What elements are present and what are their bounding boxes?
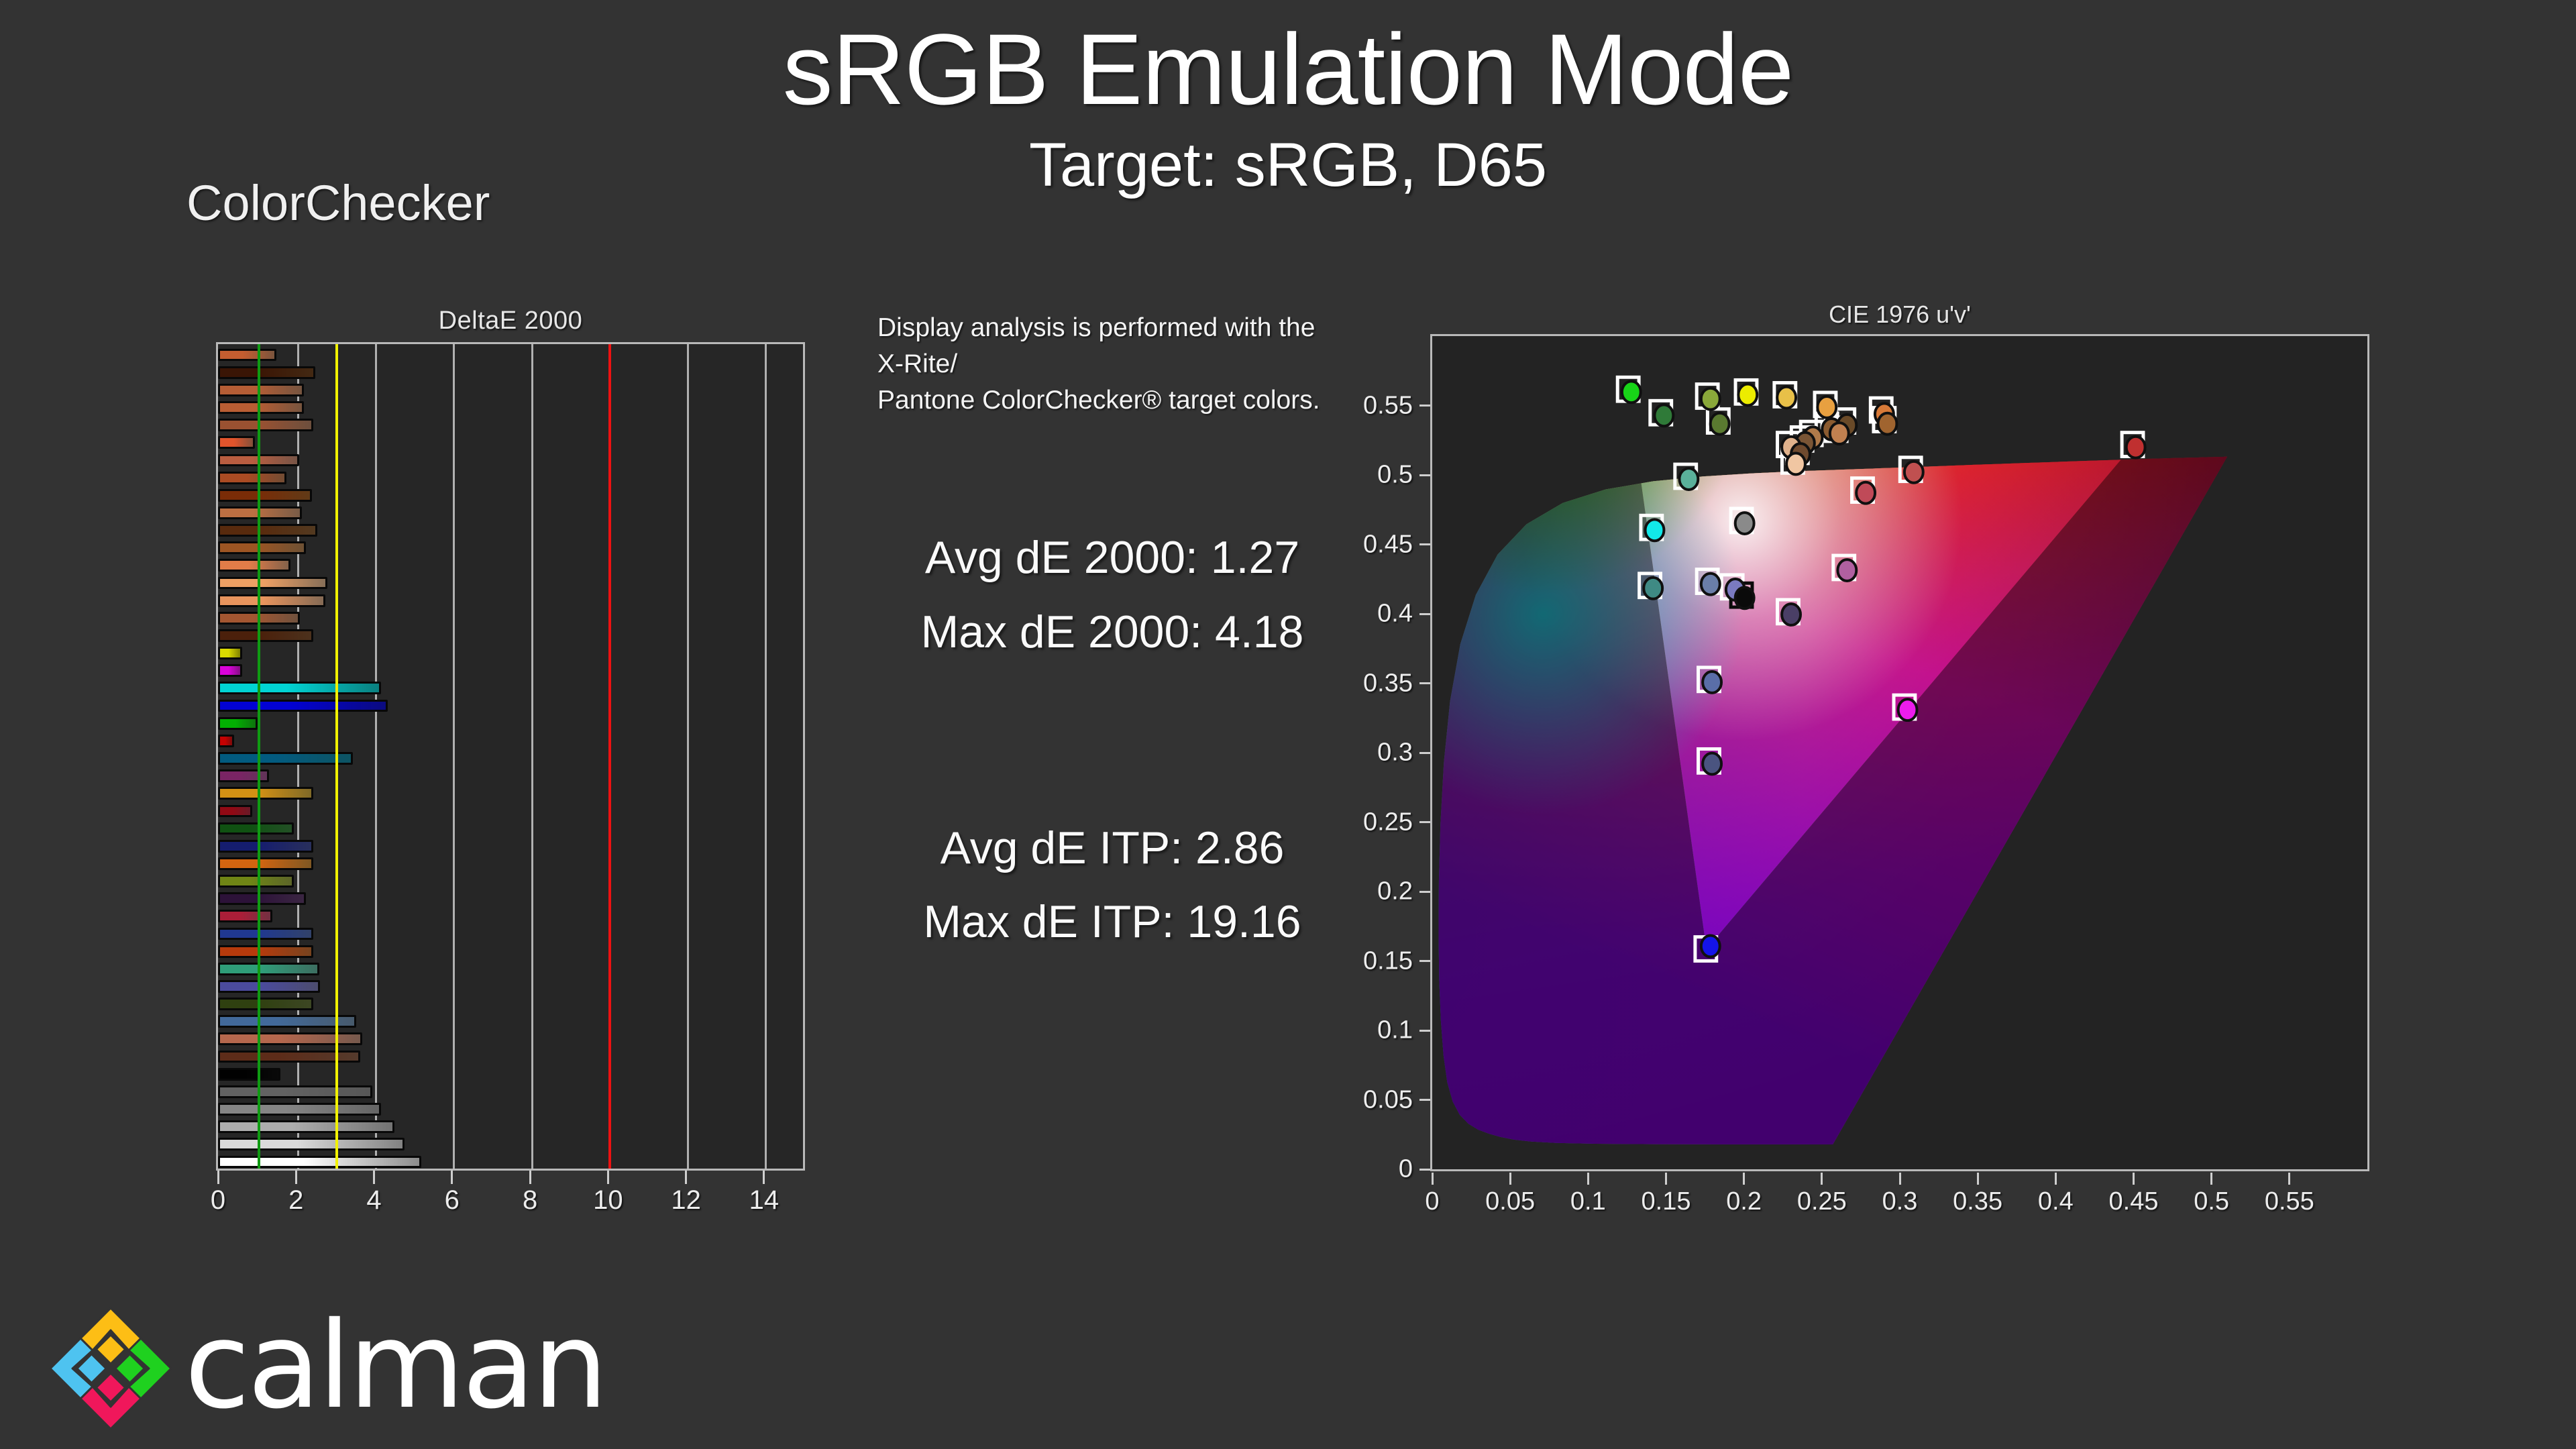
measured-marker [1782,604,1801,625]
deltae-bar-x-axis: 02468101214 [216,1171,805,1218]
axis-tick-label: 0.35 [1363,669,1413,698]
calman-logo: calman [47,1301,651,1436]
axis-tick-label: 0.5 [1377,461,1413,490]
bar-item [218,1138,405,1150]
deltae-bar-chart: DeltaE 2000 [216,342,805,1171]
measured-marker [1830,423,1849,444]
bar-item [218,1103,381,1116]
bar-item [218,717,258,730]
bar-item [218,980,320,993]
axis-tick [1419,543,1430,545]
axis-tick [1419,1169,1430,1171]
bar-item [218,436,255,449]
bar-item [218,1156,421,1169]
axis-tick-label: 10 [593,1185,623,1216]
axis-tick-label: 12 [671,1185,701,1216]
axis-tick [1419,682,1430,684]
axis-tick [1419,752,1430,754]
bar-item [218,928,313,941]
bar-item [218,805,252,818]
measured-marker [1777,387,1796,409]
deltae-bar-chart-title: DeltaE 2000 [216,307,805,335]
axis-tick [217,1171,219,1184]
deltae-bar-plot-area [216,342,805,1171]
axis-tick [1419,960,1430,962]
axis-tick [1419,405,1430,407]
axis-tick-label: 6 [445,1185,460,1216]
measured-marker [1738,384,1757,406]
measured-marker [1646,519,1664,541]
axis-tick [1665,1173,1667,1185]
axis-tick-label: 14 [749,1185,780,1216]
bar-item [218,629,313,642]
axis-tick [2210,1173,2212,1185]
cie-diagram-svg [1432,336,2367,1169]
bar-item [218,401,304,414]
axis-tick-label: 0 [1425,1187,1439,1216]
bar-item [218,524,317,537]
axis-tick [451,1171,453,1184]
measured-marker [1786,453,1805,475]
axis-tick [373,1171,375,1184]
axis-tick [1977,1173,1979,1185]
axis-tick [1419,1030,1430,1032]
bar-item [218,682,381,694]
axis-tick-label: 0.15 [1642,1187,1691,1216]
bar-gridline [375,344,377,1169]
bar-item [218,1051,360,1063]
measured-marker [1701,388,1720,410]
bar-gridline [453,344,455,1169]
axis-tick-label: 0.05 [1363,1085,1413,1114]
bar-item [218,366,315,379]
measured-marker [1703,672,1721,693]
axis-tick-label: 0.1 [1570,1187,1606,1216]
axis-tick-label: 0.2 [1726,1187,1762,1216]
bar-item [218,1120,394,1133]
bar-item [218,752,353,765]
bar-item [218,472,286,484]
axis-tick [1419,613,1430,615]
bar-item [218,857,313,870]
axis-tick-label: 0.3 [1377,739,1413,767]
bar-item [218,1032,362,1045]
cie-chart-title: CIE 1976 u'v' [1430,301,2369,329]
axis-tick [1432,1173,1434,1185]
axis-tick [1743,1173,1745,1185]
avg-de2000-stat: Avg dE 2000: 1.27 [877,531,1347,584]
measured-marker [1898,699,1917,720]
measured-marker [1701,935,1720,957]
measured-marker [2127,437,2145,458]
calman-diamond-icon [47,1301,174,1436]
axis-tick-label: 0.4 [1377,600,1413,629]
bar-item [218,1068,280,1081]
axis-tick [607,1171,609,1184]
bar-item [218,419,313,431]
axis-tick-label: 0.15 [1363,947,1413,975]
reference-line [258,344,260,1169]
axis-tick-label: 0 [1399,1155,1413,1184]
bar-item [218,1085,372,1098]
reference-line [335,344,338,1169]
bar-item [218,769,269,782]
axis-tick-label: 0.3 [1882,1187,1918,1216]
measured-marker [1878,413,1897,435]
axis-tick [1419,891,1430,893]
analysis-note-line-1: Display analysis is performed with the X… [877,310,1347,382]
cie-plot-area [1430,334,2369,1171]
bar-item [218,577,327,590]
bar-item [218,349,276,362]
axis-tick-label: 0.25 [1797,1187,1847,1216]
axis-tick [1419,821,1430,823]
measured-marker [1904,462,1923,483]
measured-marker [1679,468,1698,490]
max-deitp-stat: Max dE ITP: 19.16 [877,896,1347,948]
bar-gridline [803,344,805,1169]
axis-tick [1419,1099,1430,1101]
analysis-note-line-2: Pantone ColorChecker® target colors. [877,382,1347,419]
measured-marker [1644,578,1662,599]
calman-wordmark: calman [184,1296,606,1435]
bar-item [218,735,234,747]
bar-item [218,541,306,554]
axis-tick [1419,474,1430,476]
bar-item [218,963,319,975]
axis-tick-label: 0.55 [2265,1187,2314,1216]
axis-tick [295,1171,297,1184]
axis-tick-label: 0.45 [1363,530,1413,559]
axis-tick [1587,1173,1589,1185]
axis-tick [2133,1173,2135,1185]
axis-tick-label: 0.2 [1377,877,1413,906]
axis-tick [1509,1173,1511,1185]
axis-tick-label: 0.1 [1377,1016,1413,1045]
bar-item [218,559,290,572]
measured-marker [1856,482,1875,504]
bar-item [218,910,272,922]
axis-tick-label: 2 [288,1185,303,1216]
bar-item [218,822,294,835]
bar-item [218,384,304,396]
axis-tick [763,1171,765,1184]
reference-line [608,344,611,1169]
bar-item [218,945,313,958]
page-title: sRGB Emulation Mode [0,19,2576,119]
axis-tick-label: 0.45 [2109,1187,2159,1216]
bar-item [218,664,242,677]
bar-item [218,787,313,800]
bar-item [218,840,313,853]
axis-tick-label: 0.5 [2194,1187,2229,1216]
axis-tick [1821,1173,1823,1185]
axis-tick-label: 0.35 [1953,1187,2002,1216]
cie-1976-chart: CIE 1976 u'v' 00.050.10.150.20.250.30.35… [1430,334,2369,1171]
bar-item [218,489,312,502]
measured-marker [1701,574,1720,595]
bar-item [218,998,313,1010]
measured-marker [1711,413,1729,435]
bar-item [218,594,325,607]
axis-tick [529,1171,531,1184]
axis-tick [1899,1173,1901,1185]
bar-item [218,700,388,712]
axis-tick [685,1171,687,1184]
measured-marker [1703,753,1721,775]
measured-marker [1735,513,1754,534]
axis-tick-label: 0.05 [1485,1187,1535,1216]
bar-item [218,647,242,659]
measured-marker [1654,405,1673,426]
measured-marker [1817,396,1836,418]
analysis-note: Display analysis is performed with the X… [877,310,1347,418]
axis-tick [2055,1173,2057,1185]
axis-tick-label: 8 [523,1185,537,1216]
max-de2000-stat: Max dE 2000: 4.18 [877,606,1347,658]
axis-tick-label: 0 [211,1185,225,1216]
axis-tick-label: 0.55 [1363,391,1413,420]
axis-tick-label: 0.25 [1363,808,1413,837]
cie-x-axis: 00.050.10.150.20.250.30.350.40.450.50.55 [1430,1173,2369,1220]
bar-item [218,892,306,905]
measured-marker [1837,559,1856,581]
avg-deitp-stat: Avg dE ITP: 2.86 [877,822,1347,874]
axis-tick [2288,1173,2290,1185]
measured-marker [1735,587,1754,608]
axis-tick-label: 0.4 [2038,1187,2074,1216]
bar-gridline [765,344,767,1169]
colorchecker-section-label: ColorChecker [186,174,490,231]
measured-marker [1622,381,1641,402]
bar-gridline [531,344,533,1169]
axis-tick-label: 4 [366,1185,381,1216]
bar-gridline [687,344,689,1169]
bar-item [218,875,294,888]
